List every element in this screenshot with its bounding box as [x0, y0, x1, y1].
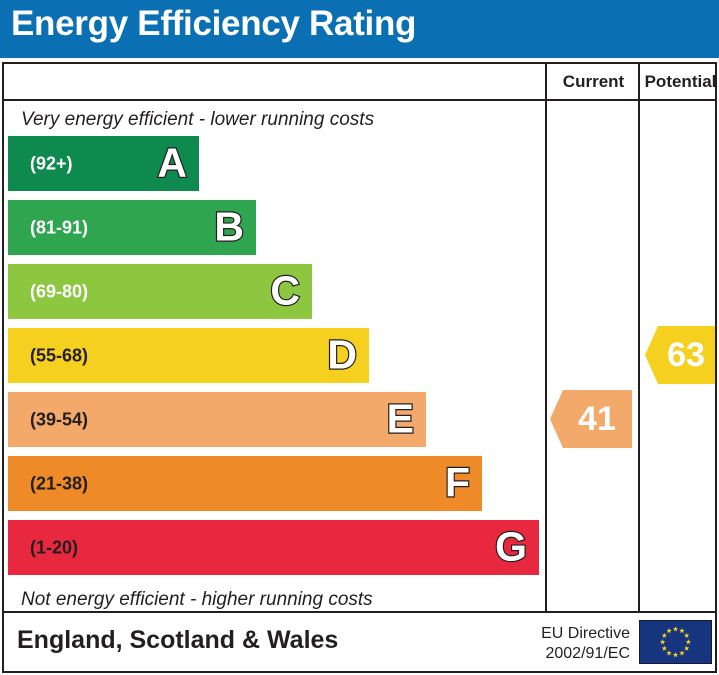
band-e: (39-54)E — [8, 392, 426, 447]
band-d: (55-68)D — [8, 328, 369, 383]
band-letter-e: E — [387, 398, 414, 439]
eu-stars-icon — [640, 621, 711, 663]
band-range-g: (1-20) — [30, 537, 78, 558]
band-letter-a: A — [157, 142, 187, 183]
column-header-potential: Potential — [640, 72, 719, 92]
band-range-b: (81-91) — [30, 217, 88, 238]
band-range-c: (69-80) — [30, 281, 88, 302]
footer-region-label: England, Scotland & Wales — [17, 626, 338, 655]
chart-title-bar: Energy Efficiency Rating — [0, 0, 719, 58]
rating-value-potential: 63 — [655, 338, 705, 372]
caption-efficient: Very energy efficient - lower running co… — [21, 109, 374, 131]
band-f: (21-38)F — [8, 456, 482, 511]
band-range-f: (21-38) — [30, 473, 88, 494]
band-range-d: (55-68) — [30, 345, 88, 366]
band-letter-c: C — [270, 270, 300, 311]
chart-footer: England, Scotland & Wales EU Directive 2… — [2, 613, 717, 673]
band-letter-g: G — [495, 526, 527, 567]
eu-flag-icon — [639, 620, 712, 664]
band-letter-f: F — [445, 462, 470, 503]
caption-inefficient: Not energy efficient - higher running co… — [21, 589, 373, 611]
rating-table: Current Potential Very energy efficient … — [2, 62, 717, 613]
band-letter-b: B — [214, 206, 244, 247]
band-b: (81-91)B — [8, 200, 256, 255]
band-range-e: (39-54) — [30, 409, 88, 430]
page-title: Energy Efficiency Rating — [11, 4, 416, 44]
column-divider-potential — [638, 64, 640, 611]
rating-arrow-potential: 63 — [645, 326, 715, 384]
column-header-current: Current — [547, 72, 640, 92]
rating-value-current: 41 — [566, 402, 616, 436]
footer-directive: EU Directive 2002/91/EC — [522, 624, 630, 664]
band-letter-d: D — [327, 334, 357, 375]
energy-efficiency-rating-chart: Energy Efficiency Rating Current Potenti… — [0, 0, 719, 675]
band-c: (69-80)C — [8, 264, 312, 319]
column-divider-current — [545, 64, 547, 611]
band-a: (92+)A — [8, 136, 199, 191]
directive-line-2: 2002/91/EC — [522, 644, 630, 664]
band-range-a: (92+) — [30, 153, 73, 174]
directive-line-1: EU Directive — [522, 624, 630, 644]
rating-arrow-current: 41 — [550, 390, 632, 448]
band-g: (1-20)G — [8, 520, 539, 575]
